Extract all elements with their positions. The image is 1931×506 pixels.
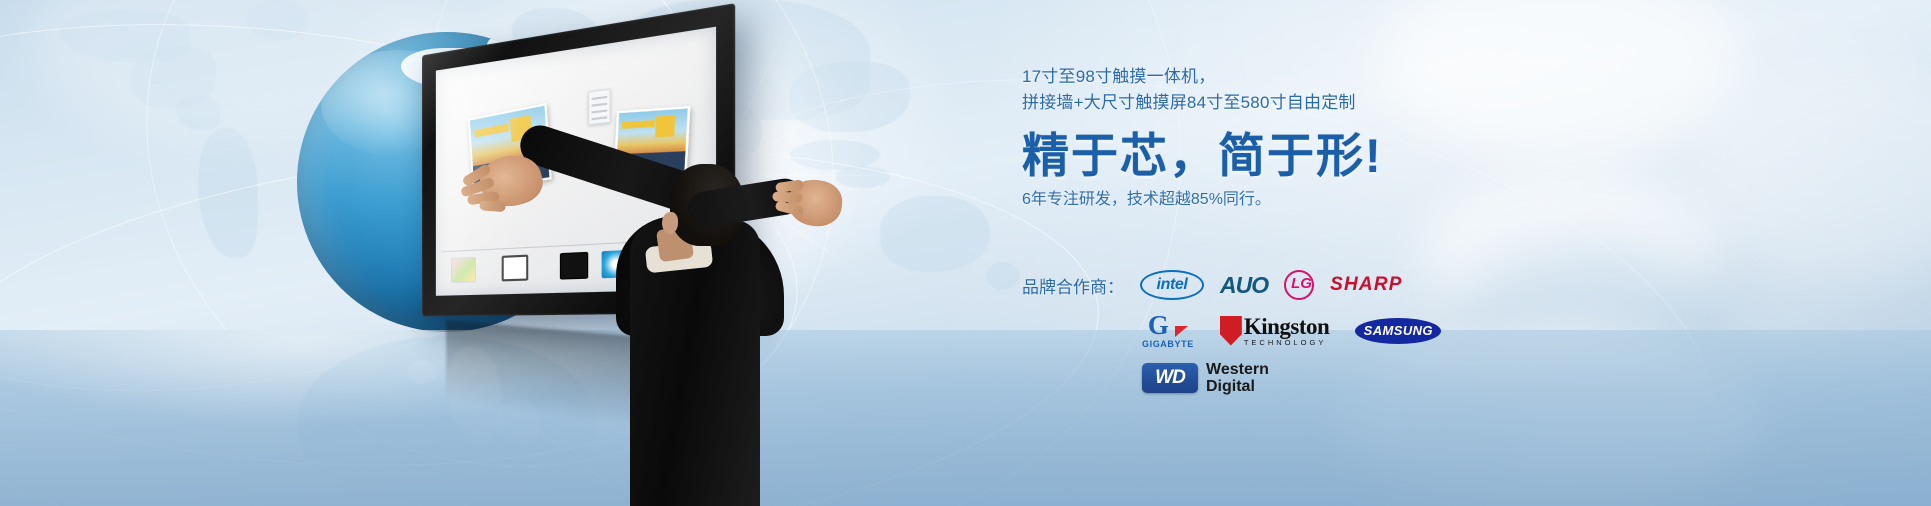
photos-icon[interactable] xyxy=(451,257,476,283)
kingston-logo[interactable]: Kingston TECHNOLOGY xyxy=(1220,315,1329,347)
subheading-line-1: 17寸至98寸触摸一体机， xyxy=(1022,64,1562,90)
intel-logo-text: intel xyxy=(1157,276,1188,294)
kingston-logo-subtext: TECHNOLOGY xyxy=(1244,339,1329,347)
wd-logo-line-2: Digital xyxy=(1206,378,1269,395)
samsung-logo[interactable]: SAMSUNG xyxy=(1355,318,1441,344)
marketing-copy: 17寸至98寸触摸一体机， 拼接墙+大尺寸触摸屏84寸至580寸自由定制 精于芯… xyxy=(1022,64,1562,212)
person-using-touchscreen xyxy=(520,150,850,506)
partner-row-2: G GIGABYTE Kingston TECHNOLOGY SAMSUNG xyxy=(1142,312,1582,349)
wd-wordmark: Western Digital xyxy=(1206,361,1269,395)
auo-logo-text: AUO xyxy=(1220,272,1268,299)
wd-logo-line-1: Western xyxy=(1206,361,1269,378)
gigabyte-logo-text: GIGABYTE xyxy=(1142,339,1194,349)
kingston-wordmark: Kingston TECHNOLOGY xyxy=(1244,315,1329,347)
western-digital-logo[interactable]: WD Western Digital xyxy=(1142,361,1269,395)
sharp-logo[interactable]: SHARP xyxy=(1330,274,1403,296)
gigabyte-mark: G xyxy=(1148,312,1188,338)
gigabyte-mark-letter: G xyxy=(1148,312,1169,338)
tagline: 6年专注研发，技术超越85%同行。 xyxy=(1022,188,1562,212)
wd-mark: WD xyxy=(1142,363,1198,393)
intel-logo[interactable]: intel xyxy=(1140,270,1204,300)
brand-partners: 品牌合作商： intel AUO LG SHARP G GIGABYTE xyxy=(1022,270,1582,395)
subheading-line-2: 拼接墙+大尺寸触摸屏84寸至580寸自由定制 xyxy=(1022,90,1562,116)
ear xyxy=(662,212,678,234)
sharp-logo-text: SHARP xyxy=(1330,274,1403,296)
partner-row-3: WD Western Digital xyxy=(1142,361,1582,395)
auo-logo[interactable]: AUO xyxy=(1220,272,1268,299)
kingston-shield-icon xyxy=(1220,316,1242,346)
gigabyte-triangle-icon xyxy=(1175,326,1188,337)
right-hand xyxy=(786,177,845,228)
lg-logo[interactable]: LG xyxy=(1284,270,1314,300)
lg-logo-text: LG xyxy=(1291,275,1312,292)
promo-banner: 17寸至98寸触摸一体机， 拼接墙+大尺寸触摸屏84寸至580寸自由定制 精于芯… xyxy=(0,0,1931,506)
page-title: 精于芯，简于形! xyxy=(1022,128,1562,184)
kingston-logo-text: Kingston xyxy=(1244,315,1329,338)
partner-row-1: 品牌合作商： intel AUO LG SHARP xyxy=(1022,270,1582,300)
gigabyte-logo[interactable]: G GIGABYTE xyxy=(1142,312,1194,349)
partners-label: 品牌合作商： xyxy=(1022,273,1124,298)
samsung-logo-text: SAMSUNG xyxy=(1364,323,1433,338)
document-card[interactable] xyxy=(588,89,610,126)
